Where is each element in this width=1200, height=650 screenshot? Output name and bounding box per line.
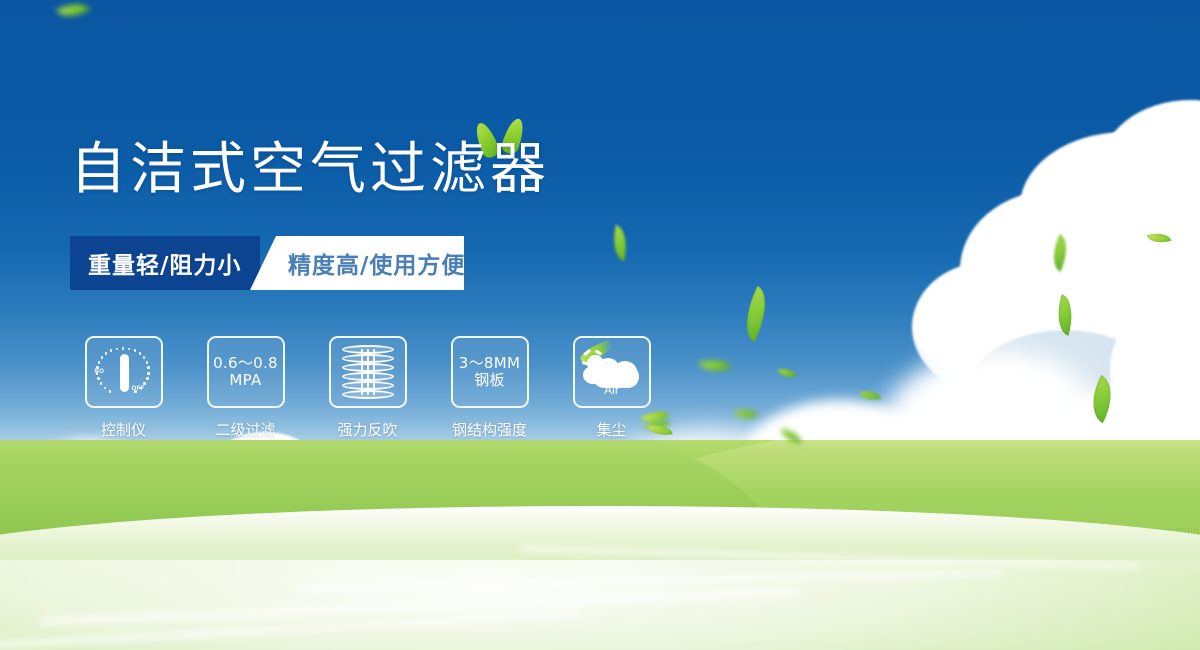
feature-label: 控制仪 bbox=[101, 419, 146, 440]
leaf bbox=[1147, 229, 1171, 247]
feature-label: 集尘 bbox=[596, 419, 626, 440]
feature-list: NO OFF 控制仪 0.6〜0.8 MPA 二级过滤 bbox=[76, 336, 659, 440]
steel-icon-line2: 钢板 bbox=[474, 372, 505, 389]
leaf bbox=[778, 367, 797, 379]
leaf bbox=[699, 354, 732, 377]
cloud-puff bbox=[960, 190, 1150, 350]
grass-field bbox=[0, 440, 1200, 650]
leaf bbox=[1051, 294, 1079, 335]
cloud-puff bbox=[1110, 290, 1200, 450]
leaf bbox=[609, 225, 632, 262]
subtitle-right-text: 精度高/使用方便 bbox=[288, 236, 465, 290]
cloud-puff bbox=[1100, 100, 1200, 240]
feature-icon-box: Air bbox=[573, 336, 651, 408]
feature-icon-box: 3〜8MM 钢板 bbox=[451, 336, 529, 408]
feature-item-filtration[interactable]: 0.6〜0.8 MPA 二级过滤 bbox=[198, 336, 293, 440]
feature-icon-box bbox=[329, 336, 407, 408]
cartridge-icon bbox=[342, 345, 394, 399]
feature-icon-box: 0.6〜0.8 MPA bbox=[207, 336, 285, 408]
feature-item-controller[interactable]: NO OFF 控制仪 bbox=[76, 336, 171, 440]
page-title: 自洁式空气过滤器 bbox=[70, 142, 550, 198]
subtitle-bar: 重量轻/阻力小 精度高/使用方便 bbox=[70, 236, 464, 290]
air-cloud-icon: Air bbox=[581, 350, 643, 394]
feature-item-dust[interactable]: Air 集尘 bbox=[564, 336, 659, 440]
gauge-label-no: NO bbox=[95, 369, 105, 375]
product-banner: 自洁式空气过滤器 重量轻/阻力小 精度高/使用方便 bbox=[0, 0, 1200, 650]
feature-label: 二级过滤 bbox=[215, 419, 275, 440]
steel-icon-line1: 3〜8MM bbox=[459, 355, 520, 372]
feature-label: 钢结构强度 bbox=[452, 419, 527, 440]
leaf bbox=[734, 405, 759, 424]
air-caption: Air bbox=[581, 383, 643, 397]
pressure-icon-line1: 0.6〜0.8 bbox=[213, 355, 278, 372]
cloud-puff bbox=[1040, 210, 1200, 400]
cloud-puff bbox=[1020, 132, 1200, 282]
leaf bbox=[1082, 375, 1123, 423]
feature-icon-box: NO OFF bbox=[85, 336, 163, 408]
gauge-icon: NO OFF bbox=[94, 346, 154, 398]
leaf bbox=[859, 388, 881, 403]
feature-label: 强力反吹 bbox=[337, 419, 397, 440]
pressure-icon-line2: MPA bbox=[229, 372, 261, 389]
gauge-needle bbox=[120, 354, 129, 392]
cloud-puff bbox=[912, 262, 1062, 392]
gauge-label-off: OFF bbox=[132, 386, 145, 392]
feature-item-steel[interactable]: 3〜8MM 钢板 钢结构强度 bbox=[442, 336, 537, 440]
leaf bbox=[56, 0, 90, 24]
subtitle-left-text: 重量轻/阻力小 bbox=[88, 236, 241, 290]
feature-item-backblow[interactable]: 强力反吹 bbox=[320, 336, 415, 440]
leaf bbox=[1046, 234, 1074, 272]
leaf bbox=[735, 286, 778, 342]
